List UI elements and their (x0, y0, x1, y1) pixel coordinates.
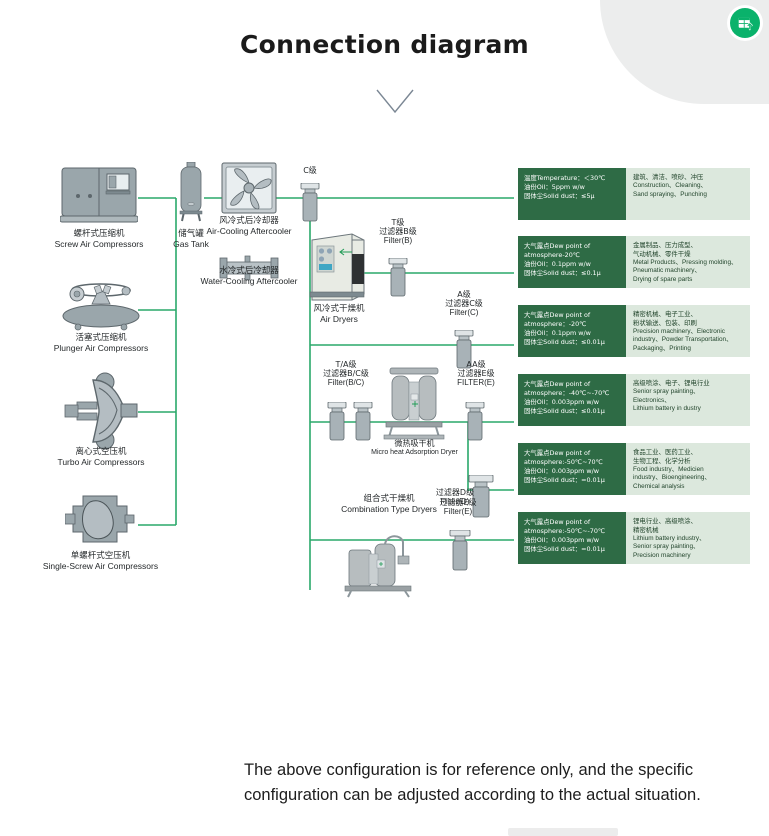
chevron-down-icon (375, 88, 415, 114)
footer-note: The above configuration is for reference… (244, 758, 754, 808)
spec-line: 油份Oil：0.1ppm w/w (524, 260, 621, 269)
use-line-en: Senior spray painting、 (633, 543, 745, 552)
filter-e-aa (464, 402, 486, 447)
spec-line: atmosphere-20℃ (524, 251, 621, 260)
spec-line: 油份Oil：0.003ppm w/w (524, 536, 621, 545)
label-filter-e-aa: AA级 过滤器E级 FILTER(E) (444, 360, 508, 388)
spec-line: 油份Oil：0.003ppm w/w (524, 467, 621, 476)
equipment-screw-air-compressor (60, 164, 138, 231)
equipment-single-screw-air-compressor (65, 488, 137, 555)
spec-line: atmosphere：-40℃~-70℃ (524, 389, 621, 398)
info-row-4: 大气露点Dew point of atmosphere：-40℃~-70℃ 油份… (518, 374, 750, 426)
use-line-en: industry、Bioengineering、 (633, 474, 745, 483)
spec-line: 大气露点Dew point of (524, 380, 621, 389)
spec-box-4: 大气露点Dew point of atmosphere：-40℃~-70℃ 油份… (518, 374, 626, 426)
use-line-en: Senior spray painting、 (633, 388, 745, 397)
use-box-1: 建筑、清洁、喷砂、冲压 Construction、Cleaning、 Sand … (626, 168, 750, 220)
use-line-en: Packaging、Printing (633, 345, 745, 354)
use-line-en: industry、Powder Transportation、 (633, 336, 745, 345)
caption-air-cooling-aftercooler: 风冷式后冷却器 Air-Cooling Aftercooler (199, 217, 299, 236)
label-filter-c: A级 过滤器C级 Filter(C) (434, 290, 494, 318)
use-line-en: Pneumatic machinery、 (633, 267, 745, 276)
spec-line: 大气露点Dew point of (524, 311, 621, 320)
spec-line: 油份Oil：0.003ppm w/w (524, 398, 621, 407)
use-line-en: Electronics、 (633, 397, 745, 406)
equipment-combination-type-dryers (343, 530, 419, 603)
use-box-4: 高级喷涂、电子、锂电行业 Senior spray painting、 Elec… (626, 374, 750, 426)
equipment-air-cooling-aftercooler (221, 162, 277, 219)
info-row-5: 大气露点Dew point of atmosphere:-50℃~70℃ 油份O… (518, 443, 750, 495)
use-line-en: Drying of spare parts (633, 276, 745, 285)
spec-box-6: 大气露点Dew point of atmosphere:-50℃~-70℃ 油份… (518, 512, 626, 564)
caption-water-cooling-aftercooler: 水冷式后冷却器 Water-Cooling Aftercooler (185, 267, 313, 286)
caption-single-screw-air-compressor: 单螺杆式空压机 Single-Screw Air Compressors (23, 552, 178, 571)
table-upload-icon[interactable] (730, 8, 760, 38)
use-box-2: 金属制品、压力成型、 气动机械、零件干燥 Metal Products、Pres… (626, 236, 750, 288)
use-line-cn: 精密机械、电子工业、 (633, 310, 745, 319)
use-line-cn: 气动机械、零件干燥 (633, 250, 745, 259)
spec-line: 大气露点Dew point of (524, 518, 621, 527)
use-box-6: 锂电行业、高级喷涂、 精密机械 Lithium battery industry… (626, 512, 750, 564)
filter-e (448, 530, 472, 577)
spec-box-1: 温度Temperature：＜30℃ 油份Oil：5ppm w/w 固体尘Sol… (518, 168, 626, 220)
use-box-5: 食品工业、医药工业、 生物工程、化学分析 Food industry、Medic… (626, 443, 750, 495)
spec-line: atmosphere：-20℃ (524, 320, 621, 329)
equipment-micro-heat-adsorption-dryer (382, 364, 446, 445)
use-box-3: 精密机械、电子工业、 粉状输送、包装、印刷 Precision machiner… (626, 305, 750, 357)
table-upload-glyph (737, 15, 754, 32)
caption-screw-air-compressor: 螺杆式压缩机 Screw Air Compressors (34, 230, 164, 249)
filter-b-unit (326, 402, 348, 447)
use-line-en: Construction、Cleaning、 (633, 182, 745, 191)
label-filter-bc: T/A级 过滤器B/C级 Filter(B/C) (313, 360, 379, 388)
label-filter-c-grade: C级 (285, 166, 335, 175)
equipment-air-dryers (308, 230, 368, 307)
info-row-1: 温度Temperature：＜30℃ 油份Oil：5ppm w/w 固体尘Sol… (518, 168, 750, 220)
spec-line: atmosphere:-50℃~-70℃ (524, 527, 621, 536)
footer-progress-bar (508, 828, 618, 836)
use-line-en: Lithium battery in dustry (633, 405, 745, 414)
caption-plunger-air-compressor: 活塞式压缩机 Plunger Air Compressors (36, 334, 166, 353)
caption-turbo-air-compressor: 离心式空压机 Turbo Air Compressors (41, 448, 161, 467)
use-line-cn: 精密机械 (633, 526, 745, 535)
use-line-cn: 食品工业、医药工业、 (633, 448, 745, 457)
equipment-turbo-air-compressor (63, 372, 139, 455)
use-line-en: Food industry、Medicien (633, 466, 745, 475)
use-line-en: Precision machinery (633, 552, 745, 561)
equipment-plunger-air-compressor (60, 278, 142, 337)
caption-micro-heat-adsorption-dryer: 微热吸干机 Micro heat Adsorption Dryer (352, 440, 477, 457)
spec-line: 固体尘Solid dust：=0.01μ (524, 545, 621, 554)
info-row-6: 大气露点Dew point of atmosphere:-50℃~-70℃ 油份… (518, 512, 750, 564)
use-line-cn: 建筑、清洁、喷砂、冲压 (633, 173, 745, 182)
spec-line: 固体尘Solid dust：≤0.01μ (524, 338, 621, 347)
spec-line: 固体尘Solid dust：≤0.01μ (524, 407, 621, 416)
use-line-cn: 生物工程、化学分析 (633, 457, 745, 466)
spec-line: 大气露点Dew point of (524, 449, 621, 458)
use-line-cn: 金属制品、压力成型、 (633, 241, 745, 250)
use-line-cn: 锂电行业、高级喷涂、 (633, 517, 745, 526)
spec-line: 温度Temperature：＜30℃ (524, 174, 621, 183)
spec-line: 油份Oil：5ppm w/w (524, 183, 621, 192)
spec-line: atmosphere:-50℃~70℃ (524, 458, 621, 467)
use-line-en: Precision machinery、Electronic (633, 328, 745, 337)
spec-line: 油份Oil：0.1ppm w/w (524, 329, 621, 338)
info-row-3: 大气露点Dew point of atmosphere：-20℃ 油份Oil：0… (518, 305, 750, 357)
spec-box-5: 大气露点Dew point of atmosphere:-50℃~70℃ 油份O… (518, 443, 626, 495)
filter-b (387, 258, 409, 303)
use-line-en: Metal Products、Pressing molding、 (633, 259, 745, 268)
label-filter-e: 过滤器E级 Filter(E) (425, 498, 491, 516)
use-line-en: Chemical analysis (633, 483, 745, 492)
info-row-2: 大气露点Dew point of atmosphere-20℃ 油份Oil：0.… (518, 236, 750, 288)
spec-line: 固体尘Solid dust：≤5μ (524, 192, 621, 201)
use-line-en: Lithium battery industry、 (633, 535, 745, 544)
use-line-en: Sand spraying、Punching (633, 191, 745, 200)
spec-box-3: 大气露点Dew point of atmosphere：-20℃ 油份Oil：0… (518, 305, 626, 357)
spec-line: 固体尘Solid dust：=0.01μ (524, 476, 621, 485)
spec-line: 大气露点Dew point of (524, 242, 621, 251)
use-line-cn: 粉状输送、包装、印刷 (633, 319, 745, 328)
caption-air-dryers: 风冷式干燥机 Air Dryers (299, 305, 379, 324)
use-line-cn: 高级喷涂、电子、锂电行业 (633, 379, 745, 388)
filter-c-grade (299, 183, 321, 228)
label-filter-b: T级 过滤器B级 Filter(B) (368, 218, 428, 246)
spec-line: 固体尘Solid dust：≤0.1μ (524, 269, 621, 278)
spec-box-2: 大气露点Dew point of atmosphere-20℃ 油份Oil：0.… (518, 236, 626, 288)
page-title: Connection diagram (0, 30, 769, 59)
